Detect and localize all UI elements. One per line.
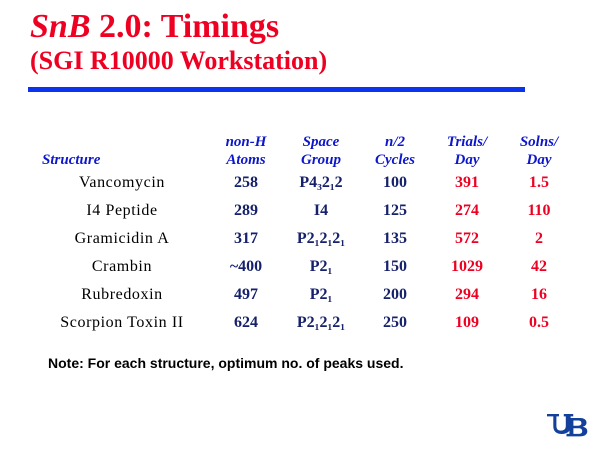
column-header-trials-line1: Trials/ bbox=[430, 133, 504, 151]
page-title: SnB 2.0: Timings bbox=[30, 8, 570, 46]
column-header-space-group: Space Group bbox=[282, 133, 360, 169]
cell-space-group: P2₁ bbox=[282, 281, 360, 309]
title-divider-rule bbox=[28, 87, 525, 92]
table-row: Vancomycin 258 P4₃2₁2 100 391 1.5 bbox=[34, 169, 574, 197]
timings-table: Structure non-H Atoms Space Group n/2 Cy… bbox=[34, 133, 574, 337]
title-remainder: 2.0: Timings bbox=[91, 8, 280, 45]
cell-space-group: P4₃2₁2 bbox=[282, 169, 360, 197]
column-header-structure: Structure bbox=[34, 133, 210, 169]
column-header-cycles: n/2 Cycles bbox=[360, 133, 430, 169]
cell-structure: Crambin bbox=[34, 253, 210, 281]
cell-cycles: 200 bbox=[360, 281, 430, 309]
cell-cycles: 150 bbox=[360, 253, 430, 281]
cell-cycles: 135 bbox=[360, 225, 430, 253]
column-header-cycles-line2: Cycles bbox=[360, 151, 430, 169]
cell-space-group: I4 bbox=[282, 197, 360, 225]
cell-atoms: 258 bbox=[210, 169, 282, 197]
title-block: SnB 2.0: Timings (SGI R10000 Workstation… bbox=[30, 8, 570, 76]
column-header-space-group-line1: Space bbox=[282, 133, 360, 151]
cell-trials-per-day: 572 bbox=[430, 225, 504, 253]
title-program-name: SnB bbox=[30, 8, 91, 45]
table-body: Vancomycin 258 P4₃2₁2 100 391 1.5 I4 Pep… bbox=[34, 169, 574, 337]
cell-space-group: P2₁2₁2₁ bbox=[282, 225, 360, 253]
column-header-atoms-line1: non-H bbox=[210, 133, 282, 151]
column-header-structure-line2: Structure bbox=[42, 151, 210, 169]
cell-cycles: 100 bbox=[360, 169, 430, 197]
cell-atoms: 497 bbox=[210, 281, 282, 309]
cell-solns-per-day: 42 bbox=[504, 253, 574, 281]
column-header-trials-line2: Day bbox=[430, 151, 504, 169]
table-row: Rubredoxin 497 P2₁ 200 294 16 bbox=[34, 281, 574, 309]
column-header-atoms-line2: Atoms bbox=[210, 151, 282, 169]
table-header: Structure non-H Atoms Space Group n/2 Cy… bbox=[34, 133, 574, 169]
column-header-solns-per-day: Solns/ Day bbox=[504, 133, 574, 169]
cell-trials-per-day: 294 bbox=[430, 281, 504, 309]
cell-cycles: 125 bbox=[360, 197, 430, 225]
table-header-row: Structure non-H Atoms Space Group n/2 Cy… bbox=[34, 133, 574, 169]
cell-atoms: 317 bbox=[210, 225, 282, 253]
cell-structure: Rubredoxin bbox=[34, 281, 210, 309]
column-header-solns-line1: Solns/ bbox=[504, 133, 574, 151]
cell-structure: Gramicidin A bbox=[34, 225, 210, 253]
cell-structure: Scorpion Toxin II bbox=[34, 309, 210, 337]
cell-solns-per-day: 1.5 bbox=[504, 169, 574, 197]
footnote-text: Note: For each structure, optimum no. of… bbox=[48, 355, 404, 371]
cell-trials-per-day: 1029 bbox=[430, 253, 504, 281]
cell-trials-per-day: 109 bbox=[430, 309, 504, 337]
cell-solns-per-day: 2 bbox=[504, 225, 574, 253]
table-row: Crambin ~400 P2₁ 150 1029 42 bbox=[34, 253, 574, 281]
table-row: Gramicidin A 317 P2₁2₁2₁ 135 572 2 bbox=[34, 225, 574, 253]
cell-trials-per-day: 274 bbox=[430, 197, 504, 225]
cell-cycles: 250 bbox=[360, 309, 430, 337]
cell-trials-per-day: 391 bbox=[430, 169, 504, 197]
cell-solns-per-day: 110 bbox=[504, 197, 574, 225]
cell-solns-per-day: 0.5 bbox=[504, 309, 574, 337]
table-row: I4 Peptide 289 I4 125 274 110 bbox=[34, 197, 574, 225]
cell-space-group: P2₁2₁2₁ bbox=[282, 309, 360, 337]
column-header-trials-per-day: Trials/ Day bbox=[430, 133, 504, 169]
ub-logo-icon bbox=[546, 408, 590, 442]
column-header-solns-line2: Day bbox=[504, 151, 574, 169]
column-header-cycles-line1: n/2 bbox=[360, 133, 430, 151]
slide-canvas: SnB 2.0: Timings (SGI R10000 Workstation… bbox=[0, 0, 600, 450]
cell-atoms: 624 bbox=[210, 309, 282, 337]
column-header-space-group-line2: Group bbox=[282, 151, 360, 169]
cell-structure: Vancomycin bbox=[34, 169, 210, 197]
cell-solns-per-day: 16 bbox=[504, 281, 574, 309]
cell-atoms: ~400 bbox=[210, 253, 282, 281]
page-subtitle: (SGI R10000 Workstation) bbox=[30, 46, 570, 76]
cell-atoms: 289 bbox=[210, 197, 282, 225]
cell-structure: I4 Peptide bbox=[34, 197, 210, 225]
cell-space-group: P2₁ bbox=[282, 253, 360, 281]
column-header-atoms: non-H Atoms bbox=[210, 133, 282, 169]
table-row: Scorpion Toxin II 624 P2₁2₁2₁ 250 109 0.… bbox=[34, 309, 574, 337]
